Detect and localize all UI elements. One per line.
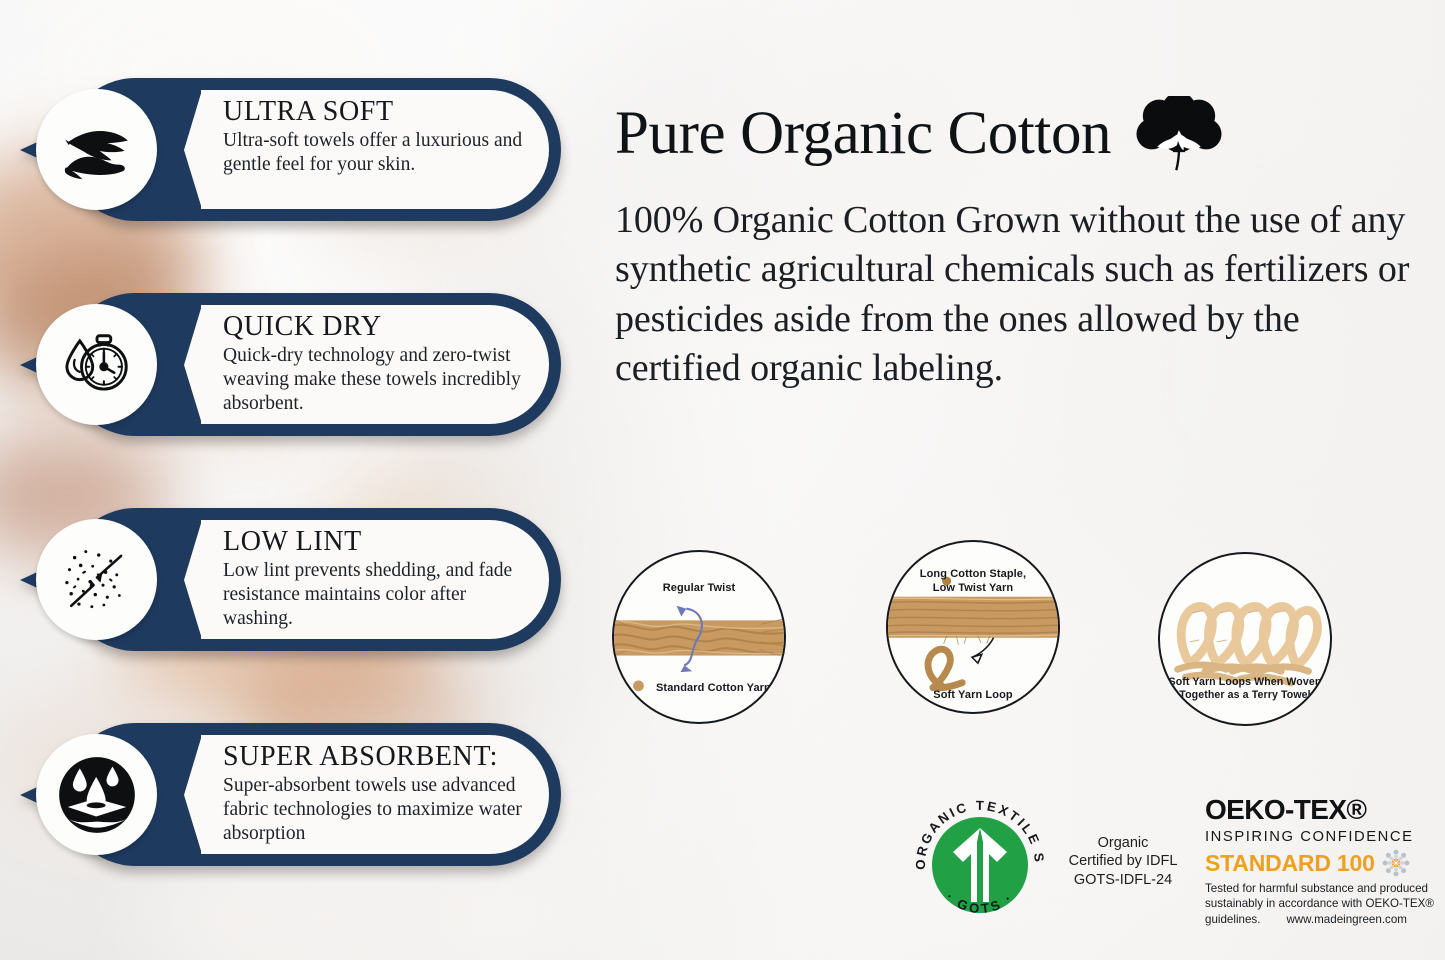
oeko-fine-line-3: guidelines.: [1205, 912, 1260, 927]
oeko-tex-fine-print: Tested for harmful substance and produce…: [1205, 881, 1441, 927]
hero-description: 100% Organic Cotton Grown without the us…: [615, 196, 1415, 394]
feature-title: SUPER ABSORBENT:: [223, 742, 529, 773]
feature-body: Ultra-soft towels offer a luxurious and …: [223, 129, 529, 177]
oeko-tex-url[interactable]: www.madeingreen.com: [1286, 912, 1407, 927]
cotton-boll-icon: [1133, 96, 1225, 172]
gots-logo: GLOBAL ORGANIC TEXTILE STANDARD · GOTS ·: [905, 790, 1055, 940]
gots-caption: Organic Certified by IDFL GOTS-IDFL-24: [1059, 834, 1187, 889]
oeko-fine-line-1: Tested for harmful substance and produce…: [1205, 881, 1441, 896]
feature-title: LOW LINT: [223, 527, 529, 558]
lint-particles-arrows-icon: [36, 519, 157, 640]
gots-caption-line-2: Certified by IDFL: [1059, 852, 1187, 870]
feature-body: Super-absorbent towels use advanced fabr…: [223, 774, 529, 846]
card-text-panel: ULTRA SOFT Ultra-soft towels offer a lux…: [201, 90, 549, 209]
yarn-diagram-group: Regular Twist Standard Cotton Yarn: [612, 540, 1332, 730]
card-text-panel: QUICK DRY Quick-dry technology and zero-…: [201, 305, 549, 424]
feature-card-quick-dry[interactable]: QUICK DRY Quick-dry technology and zero-…: [16, 293, 576, 441]
feature-card-super-absorbent[interactable]: SUPER ABSORBENT: Super-absorbent towels …: [16, 723, 576, 871]
hero-section: Pure Organic Cotton 100% Organic: [615, 96, 1435, 394]
hand-feather-icon: [36, 89, 157, 210]
water-absorption-icon: [36, 734, 157, 855]
certification-row: GLOBAL ORGANIC TEXTILE STANDARD · GOTS ·…: [905, 786, 1440, 946]
oeko-tex-title: OEKO-TEX®: [1205, 796, 1441, 824]
oeko-tex-logo: OEKO-TEX® INSPIRING CONFIDENCE STANDARD …: [1205, 796, 1441, 927]
card-text-panel: LOW LINT Low lint prevents shedding, and…: [201, 520, 549, 639]
oeko-tex-subtitle: INSPIRING CONFIDENCE: [1205, 829, 1441, 845]
feature-body: Quick-dry technology and zero-twist weav…: [223, 344, 529, 416]
feature-card-list: ULTRA SOFT Ultra-soft towels offer a lux…: [16, 78, 576, 938]
droplet-stopwatch-icon: [36, 304, 157, 425]
regular-twist-diagram: Regular Twist Standard Cotton Yarn: [612, 550, 786, 724]
feature-card-low-lint[interactable]: LOW LINT Low lint prevents shedding, and…: [16, 508, 576, 656]
page-title: Pure Organic Cotton: [615, 103, 1111, 165]
feature-title: ULTRA SOFT: [223, 97, 529, 128]
gots-caption-line-3: GOTS-IDFL-24: [1059, 871, 1187, 889]
gots-caption-line-1: Organic: [1059, 834, 1187, 852]
yarn-bottom-label: Soft Yarn Loop: [888, 689, 1058, 703]
oeko-tex-standard: STANDARD 100: [1205, 852, 1375, 875]
yarn-bottom-label: Soft Yarn Loops When Woven Together as a…: [1160, 676, 1330, 702]
low-twist-yarn-diagram: Long Cotton Staple, Low Twist Yarn Soft …: [886, 540, 1060, 714]
feature-card-ultra-soft[interactable]: ULTRA SOFT Ultra-soft towels offer a lux…: [16, 78, 576, 226]
feature-body: Low lint prevents shedding, and fade res…: [223, 559, 529, 631]
oeko-fine-line-2: sustainably in accordance with OEKO-TEX®: [1205, 896, 1441, 911]
yarn-bottom-label: Standard Cotton Yarn: [622, 682, 786, 696]
yarn-top-label: Long Cotton Staple, Low Twist Yarn: [888, 568, 1058, 596]
feature-title: QUICK DRY: [223, 312, 529, 343]
yarn-top-label: Regular Twist: [614, 582, 784, 596]
rosette-icon: [1382, 849, 1410, 877]
terry-towel-loops-diagram: Soft Yarn Loops When Woven Together as a…: [1158, 552, 1332, 726]
card-text-panel: SUPER ABSORBENT: Super-absorbent towels …: [201, 735, 549, 854]
